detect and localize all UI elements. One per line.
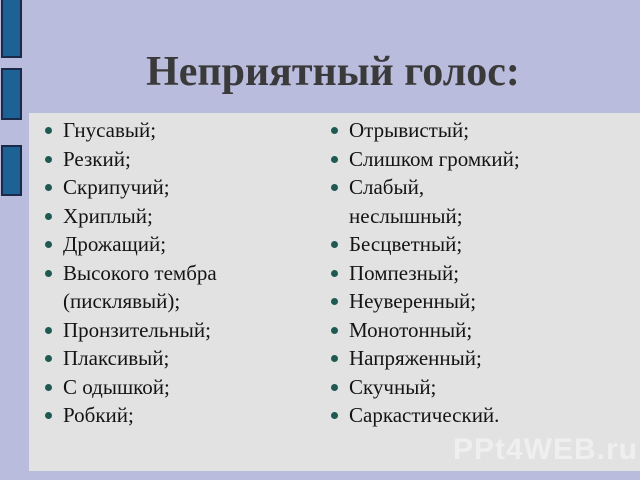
right-column: Отрывистый;Слишком громкий;Слабый,неслыш… bbox=[319, 113, 640, 471]
list-item: Робкий; bbox=[40, 401, 319, 430]
list-item: Хриплый; bbox=[40, 202, 319, 231]
left-bullet-list: Гнусавый;Резкий;Скрипучий;Хриплый;Дрожащ… bbox=[40, 116, 319, 430]
list-item: Скучный; bbox=[326, 373, 640, 402]
left-decoration-bars bbox=[0, 0, 26, 480]
list-item: Слабый, bbox=[326, 173, 640, 202]
list-item: Саркастический. bbox=[326, 401, 640, 430]
decoration-bar-2 bbox=[1, 68, 22, 120]
list-item: Монотонный; bbox=[326, 316, 640, 345]
bullet-columns: Гнусавый;Резкий;Скрипучий;Хриплый;Дрожащ… bbox=[29, 113, 640, 471]
list-item: Слишком громкий; bbox=[326, 145, 640, 174]
list-item: Напряженный; bbox=[326, 344, 640, 373]
list-item: Резкий; bbox=[40, 145, 319, 174]
list-item: С одышкой; bbox=[40, 373, 319, 402]
list-item: Отрывистый; bbox=[326, 116, 640, 145]
decoration-bar-3 bbox=[1, 145, 22, 196]
list-item-continuation: неслышный; bbox=[326, 202, 640, 231]
left-column: Гнусавый;Резкий;Скрипучий;Хриплый;Дрожащ… bbox=[29, 113, 319, 471]
content-panel: PPt4WEB.ru Гнусавый;Резкий;Скрипучий;Хри… bbox=[29, 113, 640, 471]
list-item: Высокого тембра bbox=[40, 259, 319, 288]
right-bullet-list: Отрывистый;Слишком громкий;Слабый,неслыш… bbox=[326, 116, 640, 430]
list-item: Гнусавый; bbox=[40, 116, 319, 145]
list-item: Бесцветный; bbox=[326, 230, 640, 259]
list-item: Пронзительный; bbox=[40, 316, 319, 345]
list-item: Помпезный; bbox=[326, 259, 640, 288]
list-item: Дрожащий; bbox=[40, 230, 319, 259]
list-item-continuation: (писклявый); bbox=[40, 287, 319, 316]
list-item: Плаксивый; bbox=[40, 344, 319, 373]
slide: Неприятный голос: PPt4WEB.ru Гнусавый;Ре… bbox=[0, 0, 640, 480]
decoration-bar-1 bbox=[1, 0, 22, 58]
list-item: Скрипучий; bbox=[40, 173, 319, 202]
slide-title: Неприятный голос: bbox=[26, 48, 640, 96]
list-item: Неуверенный; bbox=[326, 287, 640, 316]
